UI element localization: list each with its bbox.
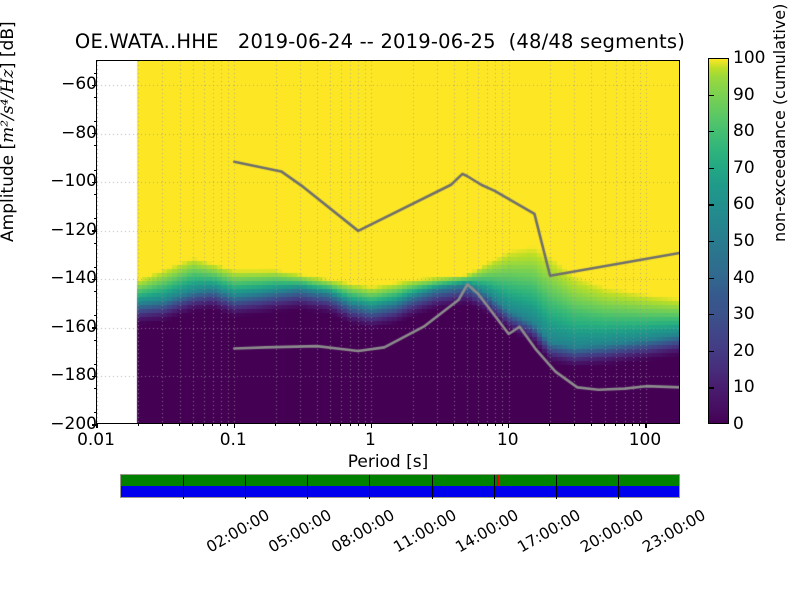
colorbar-tick-label: 60: [733, 194, 755, 214]
ppsd-figure: OE.WATA..HHE 2019-06-24 -- 2019-06-25 (4…: [0, 0, 800, 600]
y-tick-label: −160: [50, 317, 97, 337]
colorbar-tick: [708, 204, 714, 205]
x-tick-minor: [615, 423, 616, 426]
x-tick-minor: [467, 423, 468, 426]
x-tick-minor: [624, 423, 625, 426]
x-tick-label: 10: [497, 430, 519, 450]
y-tick-label: −80: [61, 123, 97, 143]
colorbar-tick: [708, 168, 714, 169]
x-tick-minor: [632, 423, 633, 426]
colorbar-tick: [708, 278, 714, 279]
x-tick-minor: [549, 423, 550, 426]
coverage-time-label: 14:00:00: [452, 506, 521, 556]
x-tick-minor: [591, 423, 592, 426]
x-tick: [234, 423, 235, 428]
x-tick: [508, 423, 509, 428]
colorbar-title: non-exceedance (cumulative) [%]: [770, 0, 789, 242]
coverage-tick: [494, 487, 495, 499]
colorbar-tick: [708, 314, 714, 315]
coverage-tick: [369, 475, 370, 487]
y-tick-minor: [94, 243, 97, 244]
x-tick-minor: [604, 423, 605, 426]
x-tick-minor: [227, 423, 228, 426]
x-tick: [371, 423, 372, 428]
x-tick-minor: [275, 423, 276, 426]
x-tick-minor: [179, 423, 180, 426]
coverage-tick: [432, 475, 433, 487]
colorbar-tick-label: 40: [733, 268, 755, 288]
colorbar-tick-label: 70: [733, 158, 755, 178]
coverage-tick: [245, 487, 246, 499]
coverage-time-band: [121, 486, 679, 497]
x-tick-minor: [478, 423, 479, 426]
x-axis-title: Period [s]: [96, 452, 680, 472]
coverage-tick: [618, 475, 619, 487]
x-tick-minor: [574, 423, 575, 426]
x-tick-minor: [436, 423, 437, 426]
ppsd-axes: [96, 60, 680, 424]
coverage-time-label: 02:00:00: [204, 506, 273, 556]
x-tick-minor: [299, 423, 300, 426]
x-tick-minor: [192, 423, 193, 426]
x-tick-minor: [358, 423, 359, 426]
colorbar-tick: [708, 351, 714, 352]
colorbar-tick: [708, 95, 714, 96]
coverage-tick: [369, 487, 370, 499]
y-tick-label: −180: [50, 365, 97, 385]
ppsd-heatmap: [97, 61, 679, 423]
coverage-time-label: 11:00:00: [390, 506, 459, 556]
x-tick-minor: [162, 423, 163, 426]
coverage-tick: [183, 475, 184, 487]
y-tick-label: −120: [50, 220, 97, 240]
colorbar-tick-label: 50: [733, 231, 755, 251]
y-tick-minor: [94, 97, 97, 98]
coverage-time-label: 23:00:00: [639, 506, 708, 556]
x-tick-minor: [203, 423, 204, 426]
coverage-tick: [307, 487, 308, 499]
x-tick: [645, 423, 646, 428]
colorbar-tick: [708, 131, 714, 132]
coverage-tick: [245, 475, 246, 487]
coverage-tick: [556, 475, 557, 487]
x-tick-minor: [453, 423, 454, 426]
coverage-time-label: 08:00:00: [328, 506, 397, 556]
x-tick-minor: [502, 423, 503, 426]
colorbar-tick-label: 20: [733, 341, 755, 361]
y-tick-minor: [94, 388, 97, 389]
coverage-gap-marker: [497, 475, 499, 486]
y-tick-label: −60: [61, 74, 97, 94]
coverage-time-label: 05:00:00: [266, 506, 335, 556]
x-tick-minor: [495, 423, 496, 426]
coverage-tick: [307, 475, 308, 487]
x-tick-label: 0.1: [220, 430, 247, 450]
coverage-time-label: 20:00:00: [577, 506, 646, 556]
x-tick-minor: [330, 423, 331, 426]
colorbar-tick: [708, 241, 714, 242]
coverage-bar[interactable]: [120, 474, 680, 498]
x-tick-label: 100: [629, 430, 661, 450]
x-tick-minor: [412, 423, 413, 426]
y-tick-minor: [94, 291, 97, 292]
y-tick-label: −100: [50, 171, 97, 191]
x-tick-minor: [220, 423, 221, 426]
colorbar-tick-label: 0: [733, 414, 744, 434]
x-tick-minor: [639, 423, 640, 426]
y-tick-minor: [94, 145, 97, 146]
y-tick-minor: [94, 340, 97, 341]
x-tick-label: 1: [365, 430, 376, 450]
y-axis-title: Amplitude [m²/s⁴/Hz] [dB]: [0, 21, 18, 242]
colorbar-tick-label: 100: [733, 48, 765, 68]
coverage-data-band: [121, 475, 679, 486]
x-tick-minor: [212, 423, 213, 426]
coverage-time-label: 17:00:00: [515, 506, 584, 556]
x-tick-minor: [350, 423, 351, 426]
colorbar-tick: [708, 387, 714, 388]
x-tick-minor: [138, 423, 139, 426]
y-tick-label: −140: [50, 268, 97, 288]
x-tick-minor: [316, 423, 317, 426]
coverage-tick: [556, 487, 557, 499]
noise-model-lines: [97, 61, 679, 423]
figure-title: OE.WATA..HHE 2019-06-24 -- 2019-06-25 (4…: [0, 30, 760, 53]
coverage-tick: [183, 487, 184, 499]
colorbar-tick-label: 80: [733, 121, 755, 141]
y-tick-minor: [94, 194, 97, 195]
x-tick-label: 0.01: [77, 430, 115, 450]
colorbar-tick-label: 10: [733, 377, 755, 397]
coverage-tick: [432, 487, 433, 499]
x-tick-minor: [340, 423, 341, 426]
colorbar-tick-label: 90: [733, 85, 755, 105]
coverage-tick: [618, 487, 619, 499]
coverage-tick: [494, 475, 495, 487]
x-tick-minor: [365, 423, 366, 426]
x-tick-minor: [487, 423, 488, 426]
colorbar-tick-label: 30: [733, 304, 755, 324]
